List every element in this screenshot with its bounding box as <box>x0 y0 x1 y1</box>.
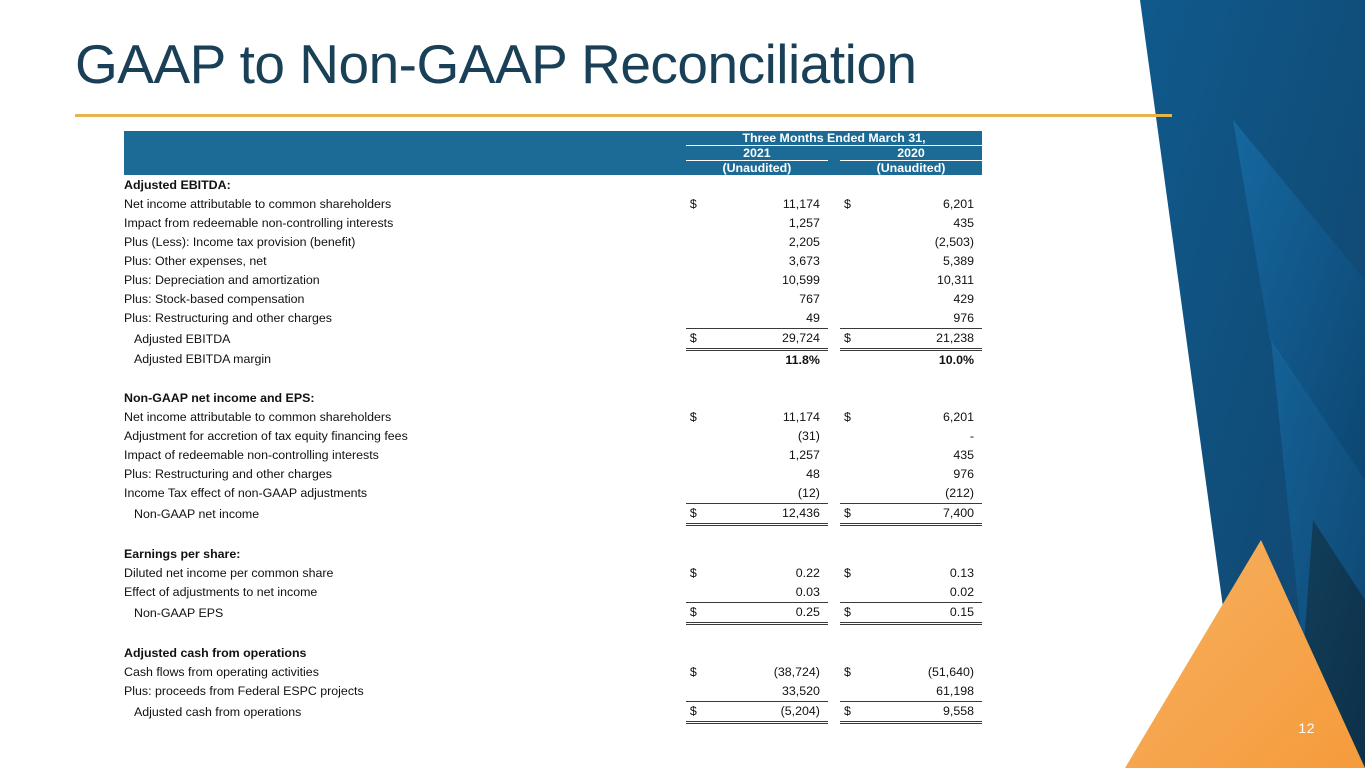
page-number: 12 <box>1298 720 1315 736</box>
reconciliation-table: Three Months Ended March 31,20212020(Una… <box>124 131 982 724</box>
table-row: Plus (Less): Income tax provision (benef… <box>124 233 982 252</box>
header-period-label: Three Months Ended March 31, <box>686 131 982 146</box>
value-2020: 9,558 <box>866 702 982 723</box>
table-subtotal-row: Adjusted cash from operations$(5,204)$9,… <box>124 702 982 723</box>
row-label: Non-GAAP net income <box>124 504 686 525</box>
currency-symbol-2020: $ <box>840 603 866 624</box>
header-unaudited-2021: (Unaudited) <box>686 161 828 176</box>
row-label: Net income attributable to common shareh… <box>124 408 686 427</box>
value-2020: 10.0% <box>866 350 982 371</box>
row-label: Effect of adjustments to net income <box>124 583 686 603</box>
column-gap <box>828 682 840 702</box>
value-2020: 21,238 <box>866 329 982 350</box>
row-label: Diluted net income per common share <box>124 564 686 583</box>
currency-symbol-2020: $ <box>840 564 866 583</box>
table-section-heading-row: Adjusted cash from operations <box>124 643 982 663</box>
row-label: Plus: proceeds from Federal ESPC project… <box>124 682 686 702</box>
header-blank-left <box>124 161 686 176</box>
column-gap <box>828 446 840 465</box>
value-2021: 11.8% <box>712 350 828 371</box>
currency-symbol-2021 <box>686 682 712 702</box>
value-2020: 0.02 <box>866 583 982 603</box>
header-unaudited-gap <box>828 161 840 176</box>
currency-symbol-2020 <box>840 214 866 233</box>
value-2020: 6,201 <box>866 195 982 214</box>
currency-symbol-2021: $ <box>686 702 712 723</box>
currency-symbol-2020 <box>840 290 866 309</box>
table-row: Plus: Stock-based compensation767429 <box>124 290 982 309</box>
value-2021: (12) <box>712 484 828 504</box>
value-2020: (2,503) <box>866 233 982 252</box>
column-gap <box>828 408 840 427</box>
row-label: Plus: Restructuring and other charges <box>124 309 686 329</box>
table-subtotal-row: Adjusted EBITDA$29,724$21,238 <box>124 329 982 350</box>
currency-symbol-2020 <box>840 484 866 504</box>
value-2020: 435 <box>866 446 982 465</box>
value-2020: (212) <box>866 484 982 504</box>
deco-blue-primary <box>1140 0 1365 768</box>
column-gap <box>828 583 840 603</box>
currency-symbol-2021 <box>686 271 712 290</box>
value-2020: 0.13 <box>866 564 982 583</box>
table-row: Impact from redeemable non-controlling i… <box>124 214 982 233</box>
value-2021: 33,520 <box>712 682 828 702</box>
spacer-cell <box>124 525 982 545</box>
table-row: Net income attributable to common shareh… <box>124 408 982 427</box>
currency-symbol-2020 <box>840 465 866 484</box>
currency-symbol-2020 <box>840 583 866 603</box>
header-blank-left <box>124 146 686 161</box>
row-label: Plus: Depreciation and amortization <box>124 271 686 290</box>
section-heading: Adjusted EBITDA: <box>124 175 982 195</box>
currency-symbol-2021 <box>686 583 712 603</box>
row-label: Cash flows from operating activities <box>124 663 686 682</box>
value-2021: 767 <box>712 290 828 309</box>
table-subtotal-row: Non-GAAP EPS$0.25$0.15 <box>124 603 982 624</box>
currency-symbol-2020 <box>840 446 866 465</box>
value-2020: 61,198 <box>866 682 982 702</box>
currency-symbol-2020 <box>840 309 866 329</box>
value-2021: 49 <box>712 309 828 329</box>
table-spacer-row <box>124 624 982 644</box>
header-blank-left <box>124 131 686 146</box>
table-row: Impact of redeemable non-controlling int… <box>124 446 982 465</box>
table-header-unaudited-row: (Unaudited)(Unaudited) <box>124 161 982 176</box>
section-heading: Non-GAAP net income and EPS: <box>124 388 982 408</box>
column-gap <box>828 214 840 233</box>
currency-symbol-2020: $ <box>840 408 866 427</box>
section-heading: Adjusted cash from operations <box>124 643 982 663</box>
table-header-year-row: 20212020 <box>124 146 982 161</box>
currency-symbol-2020: $ <box>840 329 866 350</box>
row-label: Adjustment for accretion of tax equity f… <box>124 427 686 446</box>
column-gap <box>828 504 840 525</box>
table-row: Diluted net income per common share$0.22… <box>124 564 982 583</box>
table-subtotal-row: Non-GAAP net income$12,436$7,400 <box>124 504 982 525</box>
section-heading: Earnings per share: <box>124 544 982 564</box>
value-2021: 12,436 <box>712 504 828 525</box>
currency-symbol-2021: $ <box>686 504 712 525</box>
value-2021: (5,204) <box>712 702 828 723</box>
table-margin-row: Adjusted EBITDA margin11.8%10.0% <box>124 350 982 371</box>
currency-symbol-2020 <box>840 271 866 290</box>
row-label: Non-GAAP EPS <box>124 603 686 624</box>
value-2020: 0.15 <box>866 603 982 624</box>
column-gap <box>828 195 840 214</box>
column-gap <box>828 329 840 350</box>
currency-symbol-2021 <box>686 233 712 252</box>
table-row: Plus: Other expenses, net3,6735,389 <box>124 252 982 271</box>
value-2020: (51,640) <box>866 663 982 682</box>
value-2021: (38,724) <box>712 663 828 682</box>
table-row: Net income attributable to common shareh… <box>124 195 982 214</box>
table-row: Adjustment for accretion of tax equity f… <box>124 427 982 446</box>
column-gap <box>828 350 840 371</box>
value-2021: 2,205 <box>712 233 828 252</box>
table-row: Income Tax effect of non-GAAP adjustment… <box>124 484 982 504</box>
column-gap <box>828 663 840 682</box>
row-label: Net income attributable to common shareh… <box>124 195 686 214</box>
currency-symbol-2021 <box>686 214 712 233</box>
column-gap <box>828 564 840 583</box>
currency-symbol-2021 <box>686 309 712 329</box>
column-gap <box>828 271 840 290</box>
value-2020: 976 <box>866 465 982 484</box>
row-label: Adjusted EBITDA margin <box>124 350 686 371</box>
value-2021: 1,257 <box>712 214 828 233</box>
table-row: Plus: Restructuring and other charges499… <box>124 309 982 329</box>
value-2021: 0.25 <box>712 603 828 624</box>
deco-orange-triangle <box>1125 540 1365 768</box>
value-2020: 435 <box>866 214 982 233</box>
table-spacer-row <box>124 370 982 388</box>
value-2020: 429 <box>866 290 982 309</box>
value-2021: 3,673 <box>712 252 828 271</box>
currency-symbol-2020 <box>840 427 866 446</box>
page-title-container: GAAP to Non-GAAP Reconciliation <box>75 33 1075 95</box>
value-2020: 976 <box>866 309 982 329</box>
value-2020: 5,389 <box>866 252 982 271</box>
header-year-2020: 2020 <box>840 146 982 161</box>
currency-symbol-2020 <box>840 252 866 271</box>
column-gap <box>828 233 840 252</box>
value-2021: 11,174 <box>712 408 828 427</box>
value-2021: 0.22 <box>712 564 828 583</box>
column-gap <box>828 252 840 271</box>
currency-symbol-2021 <box>686 465 712 484</box>
table-header-period-row: Three Months Ended March 31, <box>124 131 982 146</box>
currency-symbol-2020 <box>840 350 866 371</box>
value-2021: 0.03 <box>712 583 828 603</box>
deco-blue-secondary <box>1233 120 1365 500</box>
reconciliation-table-container: Three Months Ended March 31,20212020(Una… <box>124 131 982 724</box>
spacer-cell <box>124 624 982 644</box>
table-section-heading-row: Non-GAAP net income and EPS: <box>124 388 982 408</box>
currency-symbol-2020: $ <box>840 195 866 214</box>
currency-symbol-2021: $ <box>686 195 712 214</box>
table-spacer-row <box>124 525 982 545</box>
table-row: Plus: Restructuring and other charges489… <box>124 465 982 484</box>
value-2020: 7,400 <box>866 504 982 525</box>
value-2021: 10,599 <box>712 271 828 290</box>
column-gap <box>828 309 840 329</box>
value-2020: 6,201 <box>866 408 982 427</box>
column-gap <box>828 290 840 309</box>
table-section-heading-row: Earnings per share: <box>124 544 982 564</box>
currency-symbol-2020 <box>840 233 866 252</box>
table-row: Plus: proceeds from Federal ESPC project… <box>124 682 982 702</box>
column-gap <box>828 484 840 504</box>
table-section-heading-row: Adjusted EBITDA: <box>124 175 982 195</box>
row-label: Plus: Restructuring and other charges <box>124 465 686 484</box>
currency-symbol-2021 <box>686 350 712 371</box>
currency-symbol-2021: $ <box>686 408 712 427</box>
value-2021: 11,174 <box>712 195 828 214</box>
currency-symbol-2021: $ <box>686 329 712 350</box>
currency-symbol-2020: $ <box>840 663 866 682</box>
table-row: Effect of adjustments to net income0.030… <box>124 583 982 603</box>
row-label: Impact from redeemable non-controlling i… <box>124 214 686 233</box>
header-year-2021: 2021 <box>686 146 828 161</box>
row-label: Plus: Other expenses, net <box>124 252 686 271</box>
currency-symbol-2021 <box>686 290 712 309</box>
column-gap <box>828 427 840 446</box>
header-unaudited-2020: (Unaudited) <box>840 161 982 176</box>
row-label: Adjusted EBITDA <box>124 329 686 350</box>
value-2020: - <box>866 427 982 446</box>
row-label: Adjusted cash from operations <box>124 702 686 723</box>
table-row: Plus: Depreciation and amortization10,59… <box>124 271 982 290</box>
currency-symbol-2020: $ <box>840 504 866 525</box>
table-row: Cash flows from operating activities$(38… <box>124 663 982 682</box>
currency-symbol-2021 <box>686 484 712 504</box>
row-label: Impact of redeemable non-controlling int… <box>124 446 686 465</box>
column-gap <box>828 702 840 723</box>
header-year-gap <box>828 146 840 161</box>
value-2021: 1,257 <box>712 446 828 465</box>
column-gap <box>828 465 840 484</box>
deco-blue-tertiary <box>1271 340 1365 768</box>
currency-symbol-2021: $ <box>686 663 712 682</box>
currency-symbol-2020: $ <box>840 702 866 723</box>
title-divider-rule <box>75 114 1172 117</box>
page-title: GAAP to Non-GAAP Reconciliation <box>75 33 1075 95</box>
currency-symbol-2021 <box>686 446 712 465</box>
value-2021: 29,724 <box>712 329 828 350</box>
currency-symbol-2021 <box>686 252 712 271</box>
currency-symbol-2021: $ <box>686 564 712 583</box>
value-2021: (31) <box>712 427 828 446</box>
row-label: Plus (Less): Income tax provision (benef… <box>124 233 686 252</box>
currency-symbol-2021 <box>686 427 712 446</box>
row-label: Income Tax effect of non-GAAP adjustment… <box>124 484 686 504</box>
value-2021: 48 <box>712 465 828 484</box>
spacer-cell <box>124 370 982 388</box>
row-label: Plus: Stock-based compensation <box>124 290 686 309</box>
currency-symbol-2021: $ <box>686 603 712 624</box>
value-2020: 10,311 <box>866 271 982 290</box>
column-gap <box>828 603 840 624</box>
currency-symbol-2020 <box>840 682 866 702</box>
